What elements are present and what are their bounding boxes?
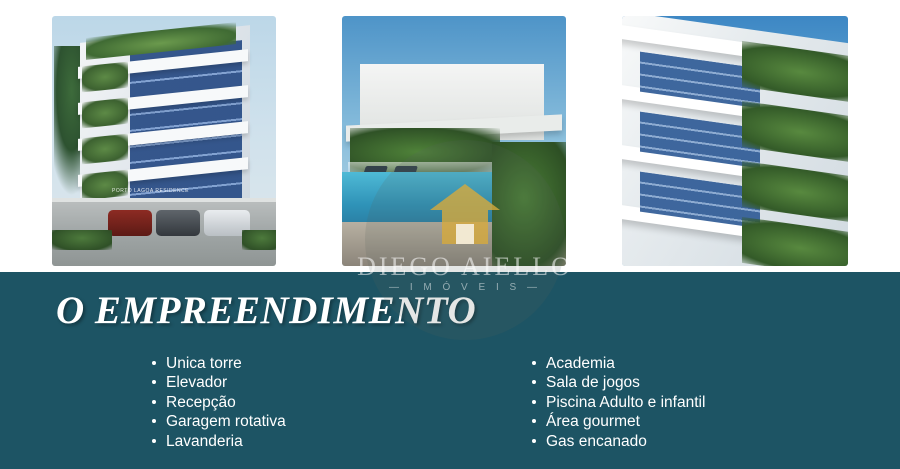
list-item: Recepção (150, 393, 286, 412)
features-list-left: Unica torre Elevador Recepção Garagem ro… (150, 354, 286, 451)
bullet-icon (532, 439, 536, 443)
list-item: Gas encanado (530, 432, 705, 451)
features-list-right: Academia Sala de jogos Piscina Adulto e … (530, 354, 705, 451)
list-item: Garagem rotativa (150, 412, 286, 431)
balcony-planting (82, 170, 128, 201)
list-item: Academia (530, 354, 705, 373)
list-item: Sala de jogos (530, 373, 705, 392)
list-item-label: Piscina Adulto e infantil (546, 394, 705, 411)
photo-strip: PORTO LAGOA RESIDENCE (0, 0, 900, 272)
bullet-icon (152, 419, 156, 423)
bullet-icon (152, 400, 156, 404)
list-item-label: Garagem rotativa (166, 413, 286, 430)
list-item: Área gourmet (530, 412, 705, 431)
bullet-icon (532, 380, 536, 384)
bullet-icon (532, 361, 536, 365)
photo-balconies (622, 16, 848, 266)
list-item-label: Recepção (166, 394, 236, 411)
slide-root: PORTO LAGOA RESIDENCE (0, 0, 900, 469)
photo-building-facade: PORTO LAGOA RESIDENCE (52, 16, 276, 266)
balcony-planting (82, 98, 128, 129)
balcony-planting (82, 134, 128, 165)
list-item-label: Elevador (166, 374, 227, 391)
list-item-label: Academia (546, 355, 615, 372)
list-item: Elevador (150, 373, 286, 392)
hedge (52, 230, 112, 250)
list-item-label: Unica torre (166, 355, 242, 372)
features-column-left: Unica torre Elevador Recepção Garagem ro… (150, 354, 286, 451)
car (108, 210, 152, 236)
list-item-label: Lavanderia (166, 433, 243, 450)
list-item: Piscina Adulto e infantil (530, 393, 705, 412)
car (156, 210, 200, 236)
list-item: Unica torre (150, 354, 286, 373)
features-column-right: Academia Sala de jogos Piscina Adulto e … (530, 354, 705, 451)
balcony-planting (82, 62, 128, 93)
bullet-icon (532, 400, 536, 404)
list-item-label: Sala de jogos (546, 374, 640, 391)
list-item: Lavanderia (150, 432, 286, 451)
building-sign-label: PORTO LAGOA RESIDENCE (112, 188, 189, 194)
bullet-icon (152, 361, 156, 365)
list-item-label: Gas encanado (546, 433, 647, 450)
bullet-icon (152, 380, 156, 384)
development-features-panel: O EMPREENDIMENTO Unica torre Elevador Re… (0, 272, 900, 469)
hedge (492, 142, 566, 266)
bullet-icon (532, 419, 536, 423)
photo-pool-deck (342, 16, 566, 266)
list-item-label: Área gourmet (546, 413, 640, 430)
bullet-icon (152, 439, 156, 443)
page-title: O EMPREENDIMENTO (56, 288, 476, 333)
hedge (242, 230, 276, 250)
